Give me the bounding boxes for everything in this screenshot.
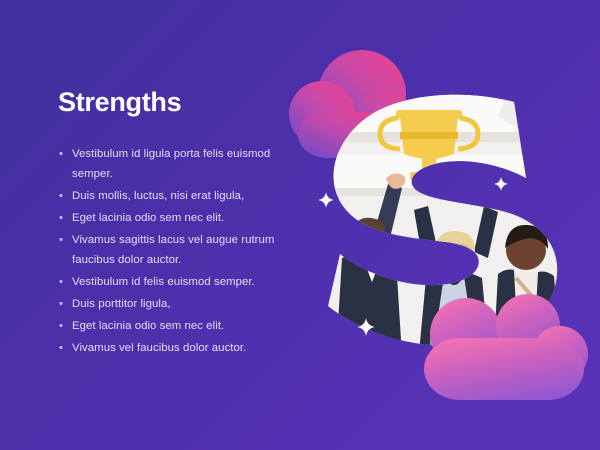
- bullet-marker-icon: •: [59, 338, 63, 358]
- list-item-text: Vestibulum id felis euismod semper.: [72, 276, 255, 288]
- bullet-marker-icon: •: [59, 272, 63, 292]
- list-item: • Eget lacinia odio sem nec elit.: [58, 316, 308, 336]
- slide-canvas: Strengths • Vestibulum id ligula porta f…: [0, 0, 600, 450]
- list-item-text: Vivamus vel faucibus dolor auctor.: [72, 342, 246, 354]
- bullet-marker-icon: •: [59, 208, 63, 228]
- list-item: • Vivamus sagittis lacus vel augue rutru…: [58, 230, 308, 270]
- bullet-marker-icon: •: [59, 294, 63, 314]
- list-item: • Eget lacinia odio sem nec elit.: [58, 208, 308, 228]
- bullet-marker-icon: •: [59, 316, 63, 336]
- sparkle-star-lower: [357, 318, 375, 341]
- strengths-bullet-list: • Vestibulum id ligula porta felis euism…: [58, 144, 308, 358]
- bullet-marker-icon: •: [59, 230, 63, 250]
- list-item: • Duis mollis, luctus, nisi erat ligula,: [58, 186, 308, 206]
- list-item-text: Vestibulum id ligula porta felis euismod…: [72, 148, 270, 180]
- sparkle-star-left: [318, 192, 334, 213]
- list-item: • Vestibulum id felis euismod semper.: [58, 272, 308, 292]
- list-item-text: Duis mollis, luctus, nisi erat ligula,: [72, 190, 244, 202]
- list-item-text: Vivamus sagittis lacus vel augue rutrum …: [72, 234, 274, 266]
- list-item-text: Eget lacinia odio sem nec elit.: [72, 212, 224, 224]
- cloud-blob-bottom: [410, 292, 590, 402]
- bullet-marker-icon: •: [59, 186, 63, 206]
- list-item: • Vivamus vel faucibus dolor auctor.: [58, 338, 308, 358]
- page-title: Strengths: [58, 88, 308, 118]
- sparkle-star-right: [494, 177, 508, 196]
- list-item: • Vestibulum id ligula porta felis euism…: [58, 144, 308, 184]
- bullet-marker-icon: •: [59, 144, 63, 164]
- list-item: • Duis porttitor ligula,: [58, 294, 308, 314]
- content-column: Strengths • Vestibulum id ligula porta f…: [58, 88, 308, 360]
- list-item-text: Duis porttitor ligula,: [72, 298, 171, 310]
- list-item-text: Eget lacinia odio sem nec elit.: [72, 320, 224, 332]
